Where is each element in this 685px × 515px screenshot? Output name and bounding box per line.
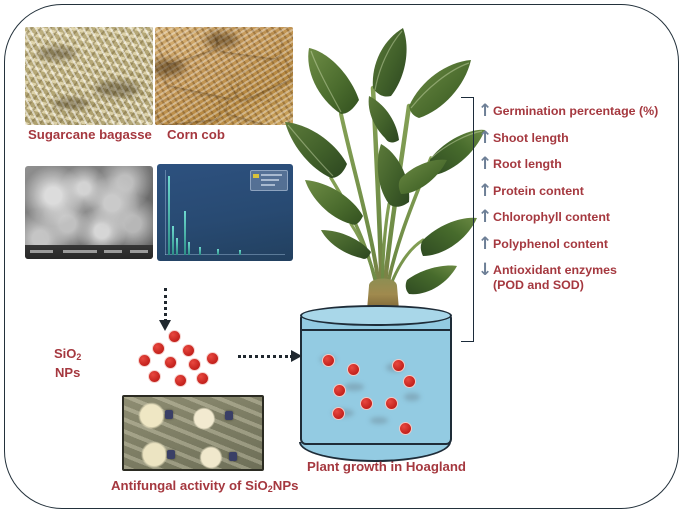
antifungal-plate-photo (122, 395, 264, 471)
sem-micrograph-panel (25, 166, 153, 259)
outcome-item: ↑ Germination percentage (%) (478, 104, 683, 119)
corn-cob-caption: Corn cob (167, 127, 225, 142)
outcome-item: ↑ Chlorophyll content (478, 210, 683, 225)
beaker-caption: Plant growth in Hoagland (307, 459, 466, 474)
sio2-label-line2: NPs (55, 365, 80, 380)
arrow-down-head (159, 320, 171, 331)
up-arrow-icon: ↑ (478, 210, 493, 225)
edx-spectrum-panel (157, 164, 293, 261)
outcome-item: ↑ Protein content (478, 184, 683, 199)
outcomes-list: ↑ Germination percentage (%) ↑ Shoot len… (478, 104, 683, 304)
nanoparticle (403, 375, 416, 388)
outcome-label: Root length (493, 157, 562, 171)
outcome-label: (POD and SOD) (493, 278, 584, 292)
hoagland-beaker (300, 305, 452, 453)
corn-cob-photo (155, 27, 293, 125)
arrow-right-head (291, 350, 302, 362)
outcome-label: Chlorophyll content (493, 210, 610, 224)
sem-info-bar (25, 245, 153, 259)
outcome-item: ↓ Antioxidant enzymes (478, 263, 683, 278)
nanoparticle-cluster (138, 330, 224, 386)
outcome-label: Shoot length (493, 131, 569, 145)
up-arrow-icon: ↑ (478, 157, 493, 172)
graphical-abstract: Sugarcane bagasse Corn cob (0, 0, 685, 515)
outcome-label: Antioxidant enzymes (493, 263, 617, 277)
antifungal-caption: Antifungal activity of SiO2NPs (111, 478, 298, 494)
arrow-down-to-nanoparticles (164, 288, 167, 322)
outcome-item: ↑ Root length (478, 157, 683, 172)
outcome-label: Protein content (493, 184, 584, 198)
nanoparticle (332, 407, 345, 420)
nanoparticle (399, 422, 412, 435)
sio2-label-line1: SiO2 (54, 346, 81, 361)
plant-illustration (281, 18, 486, 328)
up-arrow-icon: ↑ (478, 131, 493, 146)
sugarcane-bagasse-caption: Sugarcane bagasse (28, 127, 152, 142)
down-arrow-icon: ↓ (478, 263, 493, 278)
outcome-item: ↑ Polyphenol content (478, 237, 683, 252)
up-arrow-icon: ↑ (478, 104, 493, 119)
nanoparticle (392, 359, 405, 372)
outcome-item: ↑ Shoot length (478, 131, 683, 146)
sio2-nps-label: SiO2 NPs (54, 346, 81, 381)
outcomes-bracket (461, 97, 474, 342)
nanoparticle (347, 363, 360, 376)
beaker-rim (300, 305, 452, 326)
nanoparticle (333, 384, 346, 397)
nanoparticle (322, 354, 335, 367)
nanoparticle (385, 397, 398, 410)
arrow-right-to-beaker (238, 355, 293, 358)
sugarcane-bagasse-photo (25, 27, 153, 125)
outcome-label: Germination percentage (%) (493, 104, 658, 118)
outcome-label: Polyphenol content (493, 237, 608, 251)
nanoparticle (360, 397, 373, 410)
up-arrow-icon: ↑ (478, 184, 493, 199)
up-arrow-icon: ↑ (478, 237, 493, 252)
outcome-item: (POD and SOD) (478, 278, 683, 292)
